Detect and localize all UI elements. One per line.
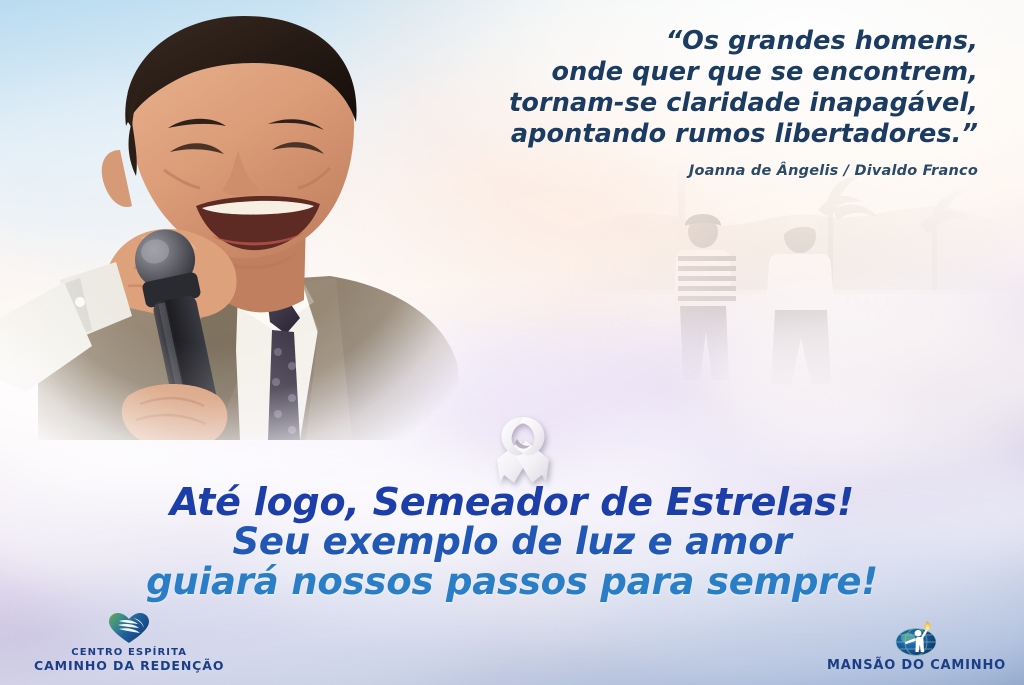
headline-block: Até logo, Semeador de Estrelas! Seu exem… — [0, 482, 1024, 602]
quote-author: Joanna de Ângelis / Divaldo Franco — [358, 163, 978, 179]
background-photo-two-people — [560, 150, 1024, 410]
headline-line-1: Até logo, Semeador de Estrelas! — [0, 482, 1024, 522]
quote-line-1: “Os grandes homens, — [358, 26, 978, 57]
logo-left-line-main: CAMINHO DA REDENÇÃO — [34, 659, 224, 673]
logo-mansao-do-caminho: MANSÃO DO CAMINHO — [827, 620, 1006, 673]
headline-line-2: Seu exemplo de luz e amor — [0, 522, 1024, 562]
headline-line-3: guiará nossos passos para sempre! — [0, 562, 1024, 602]
memorial-poster: “Os grandes homens, onde quer que se enc… — [0, 0, 1024, 685]
white-mourning-ribbon-icon — [484, 409, 562, 487]
logo-centro-espirita: CENTRO ESPÍRITA CAMINHO DA REDENÇÃO — [34, 612, 224, 673]
logo-right-text: MANSÃO DO CAMINHO — [827, 659, 1006, 673]
hands-heart-icon — [107, 612, 151, 644]
quote-block: “Os grandes homens, onde quer que se enc… — [358, 26, 978, 179]
globe-figure-flame-icon — [895, 620, 937, 656]
quote-line-3: tornam-se claridade inapagável, — [358, 88, 978, 119]
quote-line-4: apontando rumos libertadores.” — [358, 119, 978, 150]
logo-left-text: CENTRO ESPÍRITA CAMINHO DA REDENÇÃO — [34, 647, 224, 673]
quote-line-2: onde quer que se encontrem, — [358, 57, 978, 88]
logo-right-line-main: MANSÃO DO CAMINHO — [827, 659, 1006, 673]
